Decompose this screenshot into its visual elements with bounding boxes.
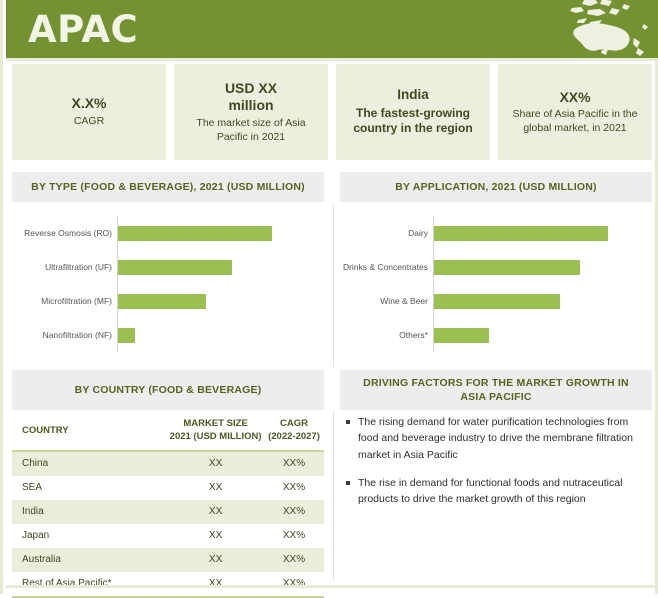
column-header-cagr-line2: (2022-2027) xyxy=(264,431,324,444)
page-title: APAC xyxy=(28,8,138,51)
bar-row: Dairy xyxy=(340,221,652,245)
list-item-text: The rising demand for water purification… xyxy=(358,414,646,463)
bar-label: Reverse Osmosis (RO) xyxy=(12,228,117,238)
list-item-text: The rise in demand for functional foods … xyxy=(358,475,646,508)
bar xyxy=(434,294,560,309)
kpi-label: CAGR xyxy=(74,115,104,129)
kpi-value-line1: USD XX xyxy=(225,80,277,98)
section-header-driving-factors: DRIVING FACTORS FOR THE MARKET GROWTH IN… xyxy=(340,370,652,410)
page-header: APAC xyxy=(6,0,658,58)
panel-divider-bottom xyxy=(333,410,334,580)
bar-row: Others* xyxy=(340,323,652,347)
bar-label: Dairy xyxy=(340,228,433,238)
section-header-by-type: BY TYPE (FOOD & BEVERAGE), 2021 (USD MIL… xyxy=(12,172,324,202)
drivers-title-line2: ASIA PACIFIC xyxy=(460,390,531,404)
bar xyxy=(434,328,489,343)
bar xyxy=(118,328,135,343)
table-bottom-rule xyxy=(12,596,324,598)
table-header-row: COUNTRY MARKET SIZE 2021 (USD MILLION) C… xyxy=(12,410,324,452)
kpi-card-cagr: X.X% CAGR xyxy=(12,64,166,160)
bar-label: Ultrafiltration (UF) xyxy=(12,262,117,272)
chart-by-application: Dairy Drinks & Concentrates Wine & Beer … xyxy=(340,210,652,360)
kpi-value: X.X% xyxy=(71,95,106,113)
bar xyxy=(434,226,608,241)
footer-rule xyxy=(6,585,658,588)
column-header-market-size-line2: 2021 (USD MILLION) xyxy=(167,431,264,444)
table-row: Rest of Asia Pacific* XX XX% xyxy=(12,572,324,596)
chart-by-type: Reverse Osmosis (RO) Ultrafiltration (UF… xyxy=(12,210,324,360)
column-header-market-size-line1: MARKET SIZE xyxy=(167,418,264,431)
list-item: The rising demand for water purification… xyxy=(340,414,652,463)
kpi-card-row: X.X% CAGR USD XX million The market size… xyxy=(12,64,652,160)
column-header-cagr: CAGR (2022-2027) xyxy=(264,418,324,444)
table-row: Japan XX XX% xyxy=(12,524,324,548)
bar-row: Wine & Beer xyxy=(340,289,652,313)
drivers-title-line1: DRIVING FACTORS FOR THE MARKET GROWTH IN xyxy=(363,376,629,390)
kpi-label: Share of Asia Pacific in the global mark… xyxy=(504,108,646,135)
cell-market-size: XX xyxy=(167,458,264,469)
column-header-country: COUNTRY xyxy=(12,425,167,436)
cell-country: Japan xyxy=(12,530,167,541)
cell-country: Australia xyxy=(12,554,167,565)
kpi-value: XX% xyxy=(559,89,590,107)
bar-label: Wine & Beer xyxy=(340,296,433,306)
kpi-card-global-share: XX% Share of Asia Pacific in the global … xyxy=(498,64,652,160)
bar-row: Microfiltration (MF) xyxy=(12,289,324,313)
bar xyxy=(434,260,580,275)
bullet-square-icon xyxy=(346,481,350,485)
table-row: China XX XX% xyxy=(12,452,324,476)
kpi-value: India xyxy=(397,87,429,104)
kpi-label: The market size of Asia Pacific in 2021 xyxy=(180,117,322,144)
table-row: Australia XX XX% xyxy=(12,548,324,572)
bar-label: Microfiltration (MF) xyxy=(12,296,117,306)
list-item: The rise in demand for functional foods … xyxy=(340,475,652,508)
bar-row: Drinks & Concentrates xyxy=(340,255,652,279)
cell-cagr: XX% xyxy=(264,506,324,517)
driving-factors-list: The rising demand for water purification… xyxy=(340,414,652,519)
asia-pacific-map-icon xyxy=(554,0,650,58)
infographic-page: APAC X.X% CAGR xyxy=(0,0,658,594)
column-header-market-size: MARKET SIZE 2021 (USD MILLION) xyxy=(167,418,264,444)
kpi-card-market-size: USD XX million The market size of Asia P… xyxy=(174,64,328,160)
table-row: India XX XX% xyxy=(12,500,324,524)
kpi-label: The fastest-growing country in the regio… xyxy=(342,106,484,137)
header-divider xyxy=(6,58,658,61)
bar-label: Drinks & Concentrates xyxy=(340,262,433,272)
column-header-cagr-line1: CAGR xyxy=(264,418,324,431)
kpi-card-fastest-country: India The fastest-growing country in the… xyxy=(336,64,490,160)
bar-row: Nanofiltration (NF) xyxy=(12,323,324,347)
cell-country: India xyxy=(12,506,167,517)
cell-country: China xyxy=(12,458,167,469)
country-table: COUNTRY MARKET SIZE 2021 (USD MILLION) C… xyxy=(12,410,324,598)
cell-market-size: XX xyxy=(167,554,264,565)
section-header-by-country: BY COUNTRY (FOOD & BEVERAGE) xyxy=(12,370,324,410)
cell-cagr: XX% xyxy=(264,458,324,469)
kpi-value-line2: million xyxy=(228,97,273,115)
bullet-square-icon xyxy=(346,420,350,424)
bar-row: Reverse Osmosis (RO) xyxy=(12,221,324,245)
table-row: SEA XX XX% xyxy=(12,476,324,500)
cell-cagr: XX% xyxy=(264,482,324,493)
bar xyxy=(118,226,272,241)
cell-cagr: XX% xyxy=(264,530,324,541)
bar-label: Nanofiltration (NF) xyxy=(12,330,117,340)
bar-row: Ultrafiltration (UF) xyxy=(12,255,324,279)
bar-label: Others* xyxy=(340,330,433,340)
bar xyxy=(118,294,206,309)
cell-country: SEA xyxy=(12,482,167,493)
cell-market-size: XX xyxy=(167,482,264,493)
cell-market-size: XX xyxy=(167,506,264,517)
section-header-by-application: BY APPLICATION, 2021 (USD MILLION) xyxy=(340,172,652,202)
cell-market-size: XX xyxy=(167,530,264,541)
bar xyxy=(118,260,232,275)
cell-cagr: XX% xyxy=(264,554,324,565)
panel-divider-top xyxy=(333,205,334,367)
